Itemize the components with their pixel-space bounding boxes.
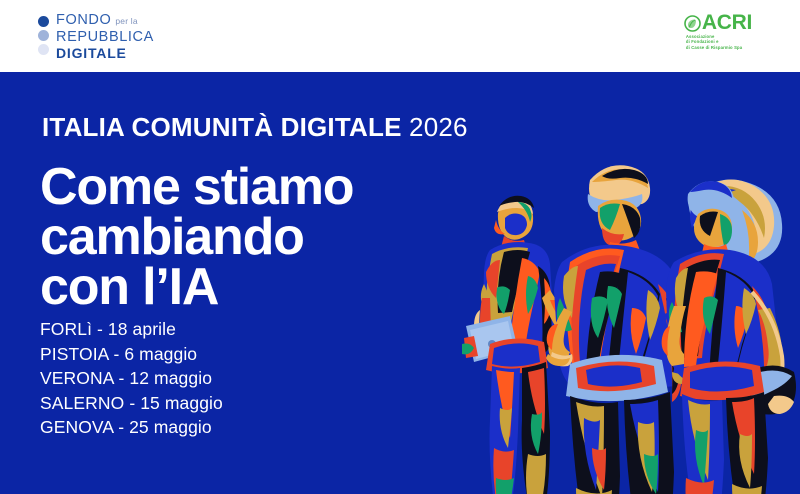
headline-line-3: con l’IA: [40, 262, 353, 312]
fondo-logo-line-1: FONDO per la: [56, 13, 154, 29]
fondo-logo-per-la: per la: [115, 14, 137, 29]
acri-subtitle-line-3: di Casse di Risparmio Spa: [686, 45, 752, 50]
headline-line-1: Come stiamo: [40, 162, 353, 212]
illustration-svg: [452, 158, 800, 494]
list-item: GENOVA - 25 maggio: [40, 415, 223, 440]
event-city: GENOVA: [40, 417, 113, 437]
event-city: VERONA: [40, 368, 114, 388]
event-separator: -: [129, 393, 135, 413]
event-city: PISTOIA: [40, 344, 108, 364]
event-city: FORLì: [40, 319, 92, 339]
event-date: 15 maggio: [140, 393, 223, 413]
event-date: 18 aprile: [108, 319, 176, 339]
list-item: FORLì - 18 aprile: [40, 317, 223, 342]
fondo-logo-fondo: FONDO: [56, 13, 111, 28]
fondo-logo-dots: [38, 13, 49, 55]
campaign-eyebrow: ITALIA COMUNITÀ DIGITALE 2026: [42, 112, 468, 142]
page-title: Come stiamo cambiando con l’IA: [40, 162, 353, 312]
event-separator: -: [113, 344, 119, 364]
list-item: SALERNO - 15 maggio: [40, 391, 223, 416]
event-date-list: FORLì - 18 aprile PISTOIA - 6 maggio VER…: [40, 317, 223, 440]
event-date: 25 maggio: [129, 417, 212, 437]
acri-subtitle: Associazione di Fondazioni e di Casse di…: [686, 34, 752, 50]
event-separator: -: [97, 319, 103, 339]
poster: FONDO per la REPUBBLICA DIGITALE ACRI As…: [0, 0, 800, 494]
list-item: VERONA - 12 maggio: [40, 366, 223, 391]
acri-wordmark: ACRI: [702, 14, 752, 32]
fondo-per-la-repubblica-digitale-logo[interactable]: FONDO per la REPUBBLICA DIGITALE: [38, 13, 154, 61]
headline-line-2: cambiando: [40, 212, 353, 262]
campaign-year: 2026: [409, 112, 468, 142]
header-bar: FONDO per la REPUBBLICA DIGITALE ACRI As…: [0, 0, 800, 72]
event-date: 6 maggio: [124, 344, 197, 364]
three-people-walking-illustration: [452, 158, 800, 494]
fondo-logo-repubblica: REPUBBLICA: [56, 29, 154, 45]
dot-dark-icon: [38, 16, 49, 27]
fondo-logo-digitale: DIGITALE: [56, 45, 154, 61]
acri-logo-main: ACRI: [684, 14, 752, 32]
event-separator: -: [119, 368, 125, 388]
list-item: PISTOIA - 6 maggio: [40, 342, 223, 367]
fondo-logo-text: FONDO per la REPUBBLICA DIGITALE: [56, 13, 154, 61]
acri-leaf-circle-icon: [684, 15, 701, 32]
event-city: SALERNO: [40, 393, 124, 413]
event-separator: -: [118, 417, 124, 437]
acri-logo[interactable]: ACRI Associazione di Fondazioni e di Cas…: [684, 14, 752, 50]
dot-light-icon: [38, 44, 49, 55]
campaign-name: ITALIA COMUNITÀ DIGITALE: [42, 112, 402, 142]
main-blue-panel: ITALIA COMUNITÀ DIGITALE 2026 Come stiam…: [0, 72, 800, 494]
event-date: 12 maggio: [129, 368, 212, 388]
dot-medium-icon: [38, 30, 49, 41]
